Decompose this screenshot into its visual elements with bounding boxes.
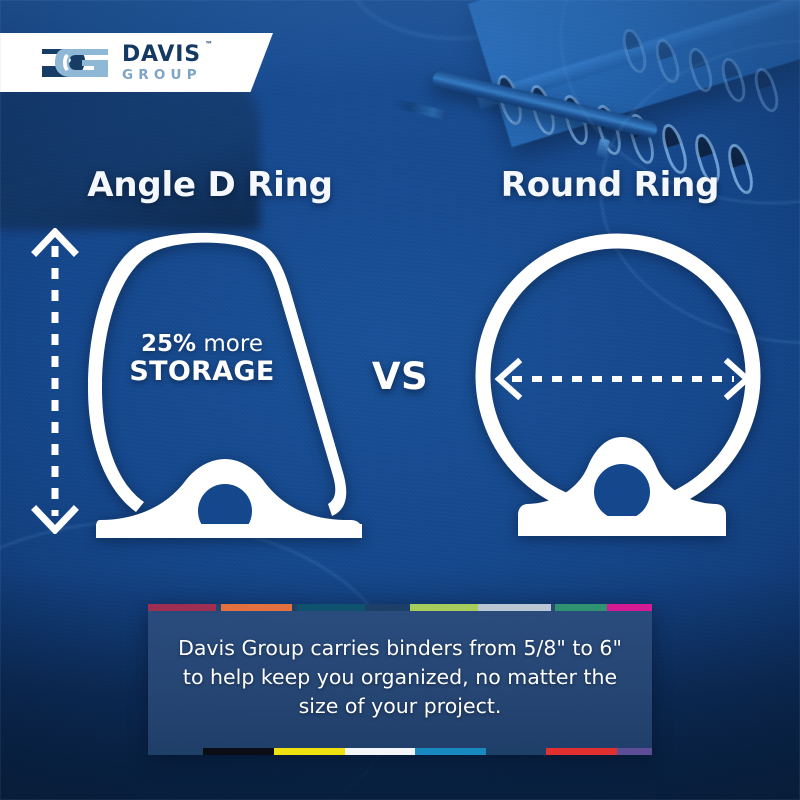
color-bar-segment-red [546, 748, 617, 755]
vertical-dashed-double-arrow-icon [28, 228, 82, 534]
color-bar-segment-purple [617, 748, 652, 755]
storage-callout: 25% more STORAGE [112, 333, 292, 386]
color-bar-segment-navy-gap2 [486, 748, 546, 755]
color-bar-segment-black [203, 748, 274, 755]
davis-group-dg-monogram-icon [40, 43, 110, 83]
color-bar-segment-white [345, 748, 416, 755]
color-bar-segment-magenta [607, 604, 652, 611]
color-bar-segment-crimson [148, 604, 216, 611]
heading-round-ring: Round Ring [430, 165, 790, 205]
color-bar-segment-navy-gap [365, 604, 410, 611]
storage-percent: 25% [141, 331, 196, 357]
color-bar-segment-navy-lead [148, 748, 203, 755]
color-bar-segment-cyan-blue [415, 748, 486, 755]
horizontal-dashed-double-arrow-icon [490, 358, 756, 400]
message-text: Davis Group carries binders from 5/8" to… [170, 634, 630, 721]
color-bar-segment-emerald [555, 604, 606, 611]
message-box: Davis Group carries binders from 5/8" to… [148, 604, 652, 755]
poster-canvas: DAVIS ™ GROUP Angle D Ring Round Ring 25… [0, 0, 800, 800]
color-bar-segment-yellow [274, 748, 345, 755]
color-bar-segment-silver [478, 604, 551, 611]
brand-name-group: GROUP [122, 69, 202, 83]
vs-separator: VS [360, 355, 440, 398]
color-bar-top [148, 604, 652, 611]
trademark-symbol: ™ [205, 41, 213, 49]
color-bar-bottom [148, 748, 652, 755]
storage-callout-line1: 25% more [112, 333, 292, 357]
storage-more: more [196, 331, 263, 357]
brand-wordmark: DAVIS ™ GROUP [122, 44, 202, 83]
heading-angle-d-ring: Angle D Ring [30, 165, 390, 205]
storage-callout-line2: STORAGE [112, 358, 292, 386]
brand-logo[interactable]: DAVIS ™ GROUP [40, 41, 202, 85]
color-bar-segment-lime [410, 604, 478, 611]
color-bar-segment-orange [221, 604, 292, 611]
brand-name-davis: DAVIS ™ [122, 44, 202, 66]
color-bar-segment-teal-dark [297, 604, 365, 611]
